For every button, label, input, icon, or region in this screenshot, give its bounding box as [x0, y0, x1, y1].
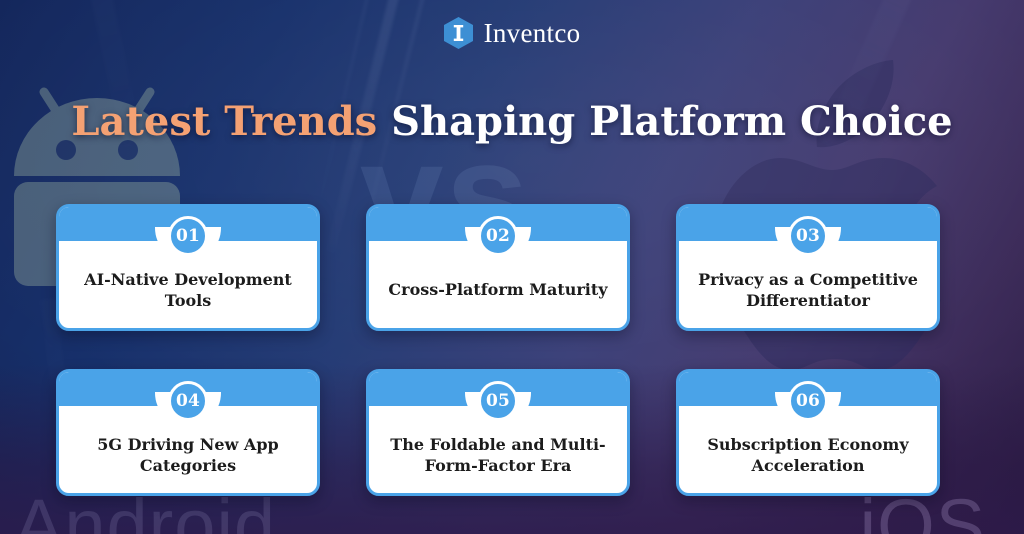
card-number: 04	[176, 393, 200, 410]
card-title: The Foldable and Multi-Form-Factor Era	[379, 426, 617, 485]
trend-card[interactable]: 05 The Foldable and Multi-Form-Factor Er…	[366, 369, 630, 496]
card-number-badge: 05	[478, 381, 518, 421]
card-number-badge: 02	[478, 216, 518, 256]
card-number-badge: 04	[168, 381, 208, 421]
page-title: Latest Trends Shaping Platform Choice	[0, 100, 1024, 145]
card-title: AI-Native Development Tools	[69, 261, 307, 320]
trend-card[interactable]: 02 Cross-Platform Maturity	[366, 204, 630, 331]
card-number: 03	[796, 228, 820, 245]
card-number-badge: 03	[788, 216, 828, 256]
trend-card-grid: 01 AI-Native Development Tools 02 Cross-…	[56, 204, 940, 496]
card-title: Privacy as a Competitive Differentiator	[689, 261, 927, 320]
card-number-badge: 01	[168, 216, 208, 256]
hexagon-i-logo-icon	[444, 17, 473, 49]
card-number: 06	[796, 393, 820, 410]
card-number: 02	[486, 228, 510, 245]
card-title: Cross-Platform Maturity	[379, 261, 617, 320]
trend-card[interactable]: 06 Subscription Economy Acceleration	[676, 369, 940, 496]
page-title-accent: Latest Trends	[71, 98, 377, 145]
trend-card[interactable]: 04 5G Driving New App Categories	[56, 369, 320, 496]
page-title-rest: Shaping Platform Choice	[377, 98, 952, 145]
brand-name: Inventco	[484, 20, 581, 47]
card-number: 01	[176, 228, 200, 245]
trend-card[interactable]: 01 AI-Native Development Tools	[56, 204, 320, 331]
trend-card[interactable]: 03 Privacy as a Competitive Differentiat…	[676, 204, 940, 331]
brand-lockup: Inventco	[0, 17, 1024, 49]
card-title: 5G Driving New App Categories	[69, 426, 307, 485]
card-title: Subscription Economy Acceleration	[689, 426, 927, 485]
card-number: 05	[486, 393, 510, 410]
slide-canvas: vs Android iOS Inventco Latest Trends Sh…	[0, 0, 1024, 534]
card-number-badge: 06	[788, 381, 828, 421]
